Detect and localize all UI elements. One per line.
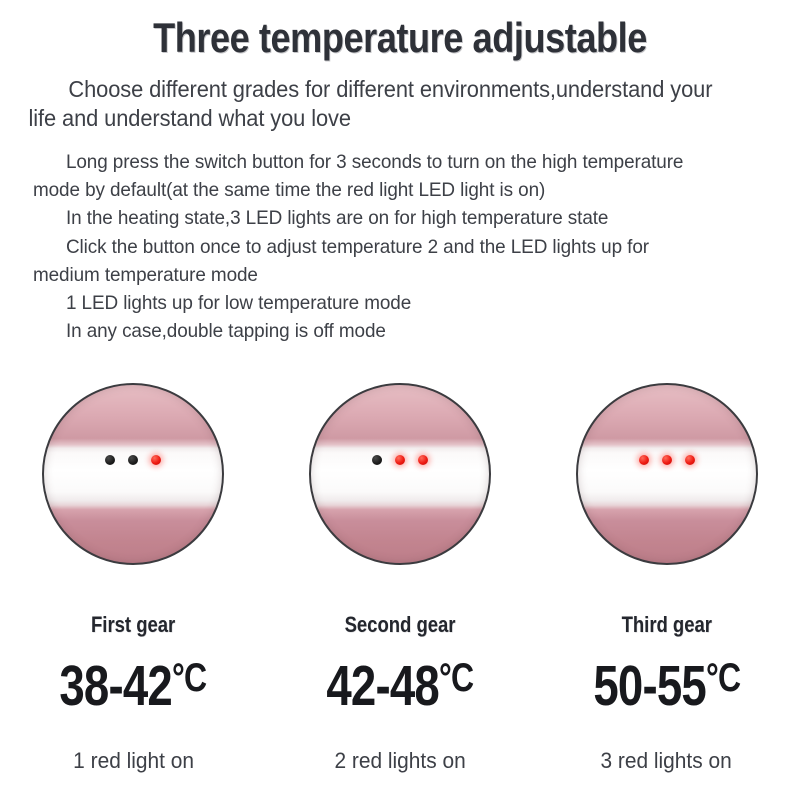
device-first-gear: [42, 383, 224, 565]
led-indicator-group: [578, 455, 756, 465]
gear-label-cell-3: Third gear: [533, 612, 800, 638]
led-indicator-3: [151, 455, 161, 465]
temperature-cell-2: 42-48°C: [267, 658, 534, 715]
instruction-line: mode by default(at the same time the red…: [33, 176, 751, 204]
temperature-third-range: 50-55: [593, 654, 706, 718]
led-indicator-1: [639, 455, 649, 465]
led-indicator-group: [311, 455, 489, 465]
instruction-line: medium temperature mode: [33, 261, 751, 289]
caption-cell-2: 2 red lights on: [267, 748, 534, 774]
subtitle-line-1: Choose different grades for different en…: [29, 76, 665, 102]
instruction-line: 1 LED lights up for low temperature mode: [33, 289, 751, 317]
device-third-gear: [576, 383, 758, 565]
device-second-gear: [309, 383, 491, 565]
gear-label-cell-1: First gear: [0, 612, 267, 638]
caption-first: 1 red light on: [73, 748, 194, 774]
gear-label-second: Second gear: [344, 612, 455, 638]
temperature-second-range: 42-48: [326, 654, 439, 718]
led-indicator-2: [128, 455, 138, 465]
led-indicator-2: [662, 455, 672, 465]
caption-second: 2 red lights on: [334, 748, 465, 774]
temperature-first-range: 38-42: [60, 654, 173, 718]
led-indicator-group: [44, 455, 222, 465]
gear-label-first: First gear: [91, 612, 175, 638]
gear-label-row: First gear Second gear Third gear: [0, 612, 800, 638]
led-indicator-1: [105, 455, 115, 465]
temperature-third: 50-55°C: [593, 658, 740, 715]
device-illustration-row: [0, 383, 800, 573]
temperature-cell-1: 38-42°C: [0, 658, 267, 715]
temperature-first: 38-42°C: [60, 658, 207, 715]
temperature-first-unit: °C: [172, 656, 206, 700]
led-indicator-1: [372, 455, 382, 465]
led-indicator-2: [395, 455, 405, 465]
instruction-line: Click the button once to adjust temperat…: [33, 233, 751, 261]
temperature-third-unit: °C: [706, 656, 740, 700]
caption-cell-1: 1 red light on: [0, 748, 267, 774]
temperature-second: 42-48°C: [326, 658, 473, 715]
caption-cell-3: 3 red lights on: [533, 748, 800, 774]
temperature-cell-3: 50-55°C: [533, 658, 800, 715]
temperature-range-row: 38-42°C 42-48°C 50-55°C: [0, 658, 800, 715]
instruction-list: Long press the switch button for 3 secon…: [0, 134, 776, 346]
gear-label-third: Third gear: [621, 612, 711, 638]
page-title: Three temperature adjustable: [56, 0, 744, 59]
instruction-line: In any case,double tapping is off mode: [33, 317, 751, 345]
instruction-line: In the heating state,3 LED lights are on…: [33, 204, 751, 232]
gear-label-cell-2: Second gear: [267, 612, 534, 638]
led-indicator-3: [685, 455, 695, 465]
led-indicator-3: [418, 455, 428, 465]
page-subtitle: Choose different grades for different en…: [0, 59, 760, 134]
instruction-line: Long press the switch button for 3 secon…: [33, 148, 751, 176]
led-caption-row: 1 red light on 2 red lights on 3 red lig…: [0, 748, 800, 774]
caption-third: 3 red lights on: [601, 748, 732, 774]
temperature-second-unit: °C: [439, 656, 473, 700]
